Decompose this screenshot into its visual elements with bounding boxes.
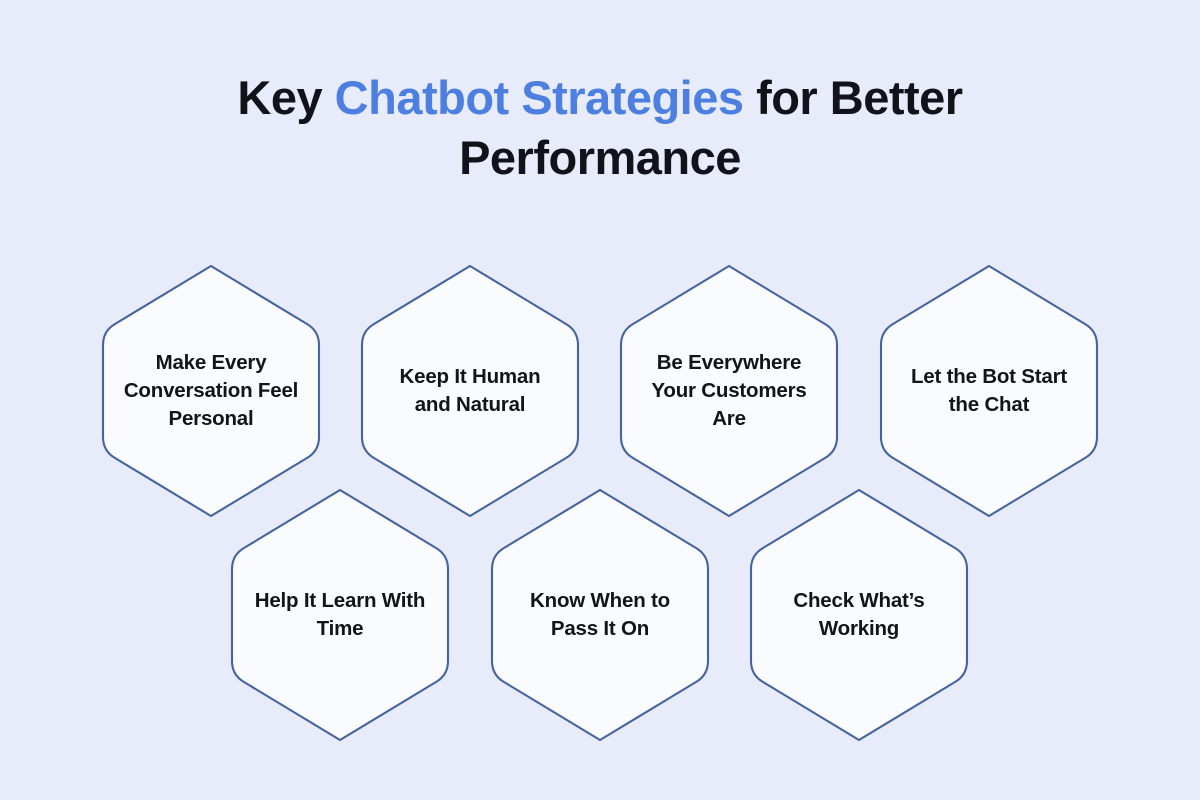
- hexagon-shape-icon: [99, 262, 323, 520]
- hexagon-grid: Make Every Conversation Feel Personal Ke…: [0, 0, 1200, 800]
- hexagon-shape-icon: [747, 486, 971, 744]
- hexagon-shape-icon: [617, 262, 841, 520]
- hexagon-shape-icon: [877, 262, 1101, 520]
- hexagon-shape-icon: [228, 486, 452, 744]
- hexagon-card-let-the-bot-start-the-chat[interactable]: Let the Bot Start the Chat: [877, 262, 1101, 520]
- hexagon-card-make-every-conversation-feel-personal[interactable]: Make Every Conversation Feel Personal: [99, 262, 323, 520]
- hexagon-card-keep-it-human-and-natural[interactable]: Keep It Human and Natural: [358, 262, 582, 520]
- hexagon-card-check-whats-working[interactable]: Check What’s Working: [747, 486, 971, 744]
- hexagon-card-know-when-to-pass-it-on[interactable]: Know When to Pass It On: [488, 486, 712, 744]
- hexagon-card-help-it-learn-with-time[interactable]: Help It Learn With Time: [228, 486, 452, 744]
- infographic-canvas: Key Chatbot Strategies for Better Perfor…: [0, 0, 1200, 800]
- hexagon-shape-icon: [358, 262, 582, 520]
- hexagon-card-be-everywhere-your-customers-are[interactable]: Be Everywhere Your Customers Are: [617, 262, 841, 520]
- hexagon-shape-icon: [488, 486, 712, 744]
